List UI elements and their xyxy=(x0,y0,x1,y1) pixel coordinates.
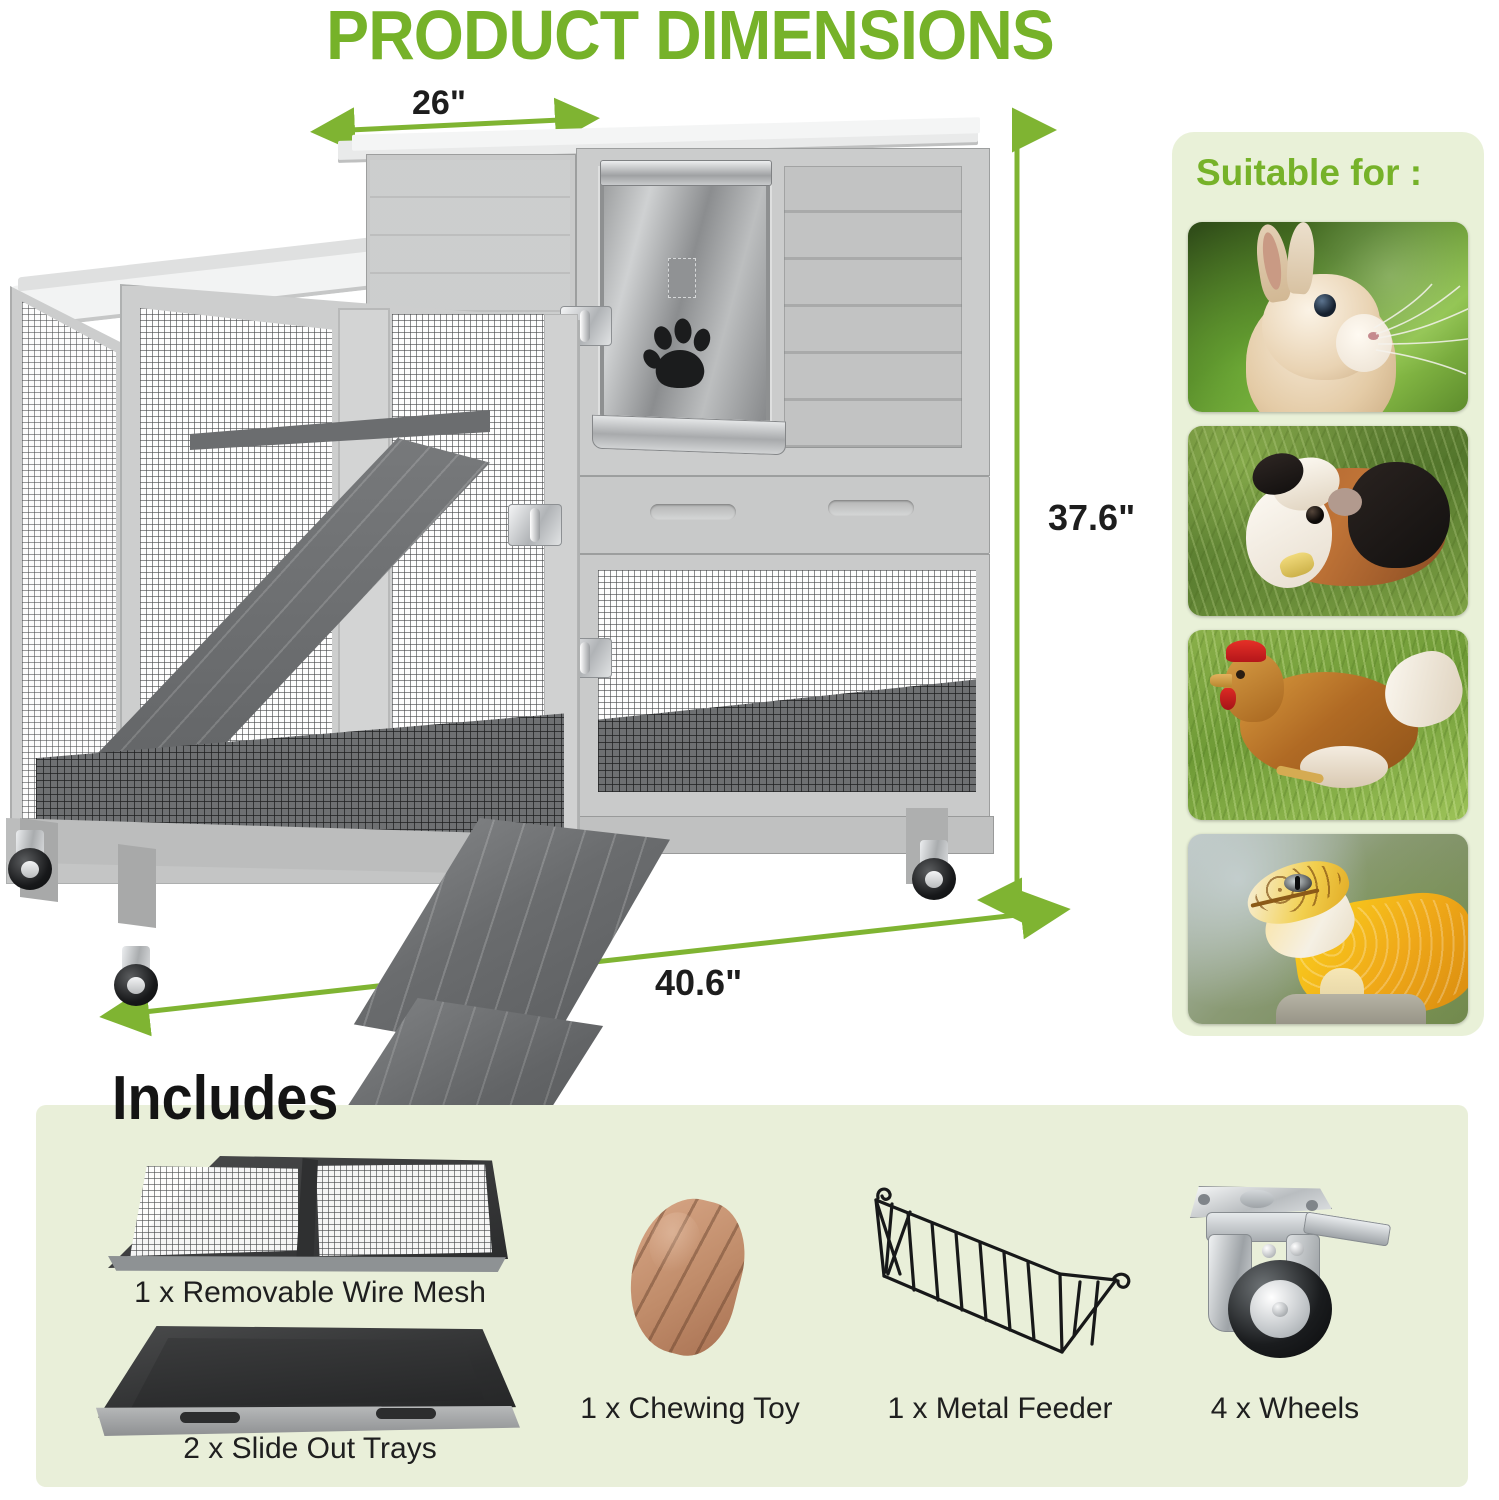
includes-item-wheels xyxy=(1170,1184,1400,1364)
suitable-photo-guinea-pig xyxy=(1188,426,1468,616)
page-title: PRODUCT DIMENSIONS xyxy=(239,0,1141,74)
suitable-for-title: Suitable for : xyxy=(1196,152,1422,194)
caster-wheel-front-left xyxy=(4,830,56,888)
feeder-latch[interactable] xyxy=(668,258,696,298)
hinge-top-pin xyxy=(580,310,590,342)
suitable-photo-rabbit xyxy=(1188,222,1468,412)
metal-feeder-panel xyxy=(604,170,766,438)
includes-item-chewing-toy xyxy=(610,1190,770,1360)
caster-wheel-rear-right xyxy=(908,840,960,898)
hutch-right-slat-panel xyxy=(784,166,962,448)
includes-label-metal-feeder: 1 x Metal Feeder xyxy=(880,1392,1120,1426)
feeder-bottom-tray xyxy=(592,415,786,456)
height-dimension-label: 37.6" xyxy=(1048,497,1135,539)
product-image-rabbit-hutch xyxy=(0,118,1010,1058)
suitable-photo-chicken xyxy=(1188,630,1468,820)
hinge-bottom-pin xyxy=(580,642,590,674)
includes-label-wheels: 4 x Wheels xyxy=(1160,1392,1410,1426)
suitable-photo-leopard-gecko xyxy=(1188,834,1468,1024)
drawer-handle-right[interactable] xyxy=(828,500,914,516)
paw-print-icon xyxy=(640,316,718,394)
drawer-handle-left[interactable] xyxy=(650,504,736,520)
feeder-top-lip xyxy=(600,160,772,186)
includes-title: Includes xyxy=(112,1063,338,1134)
includes-item-removable-wire-mesh xyxy=(100,1148,520,1278)
includes-label-slide-out-trays: 2 x Slide Out Trays xyxy=(80,1432,540,1466)
slide-out-drawer[interactable] xyxy=(576,476,990,554)
includes-item-metal-feeder xyxy=(848,1186,1148,1366)
hutch-leg-front-right xyxy=(118,844,156,928)
includes-label-chewing-toy: 1 x Chewing Toy xyxy=(560,1392,820,1426)
hinge-middle-pin xyxy=(530,508,540,542)
includes-label-removable-wire-mesh: 1 x Removable Wire Mesh xyxy=(80,1276,540,1310)
caster-wheel-front-right xyxy=(110,946,162,1004)
includes-item-slide-out-trays xyxy=(88,1320,528,1450)
